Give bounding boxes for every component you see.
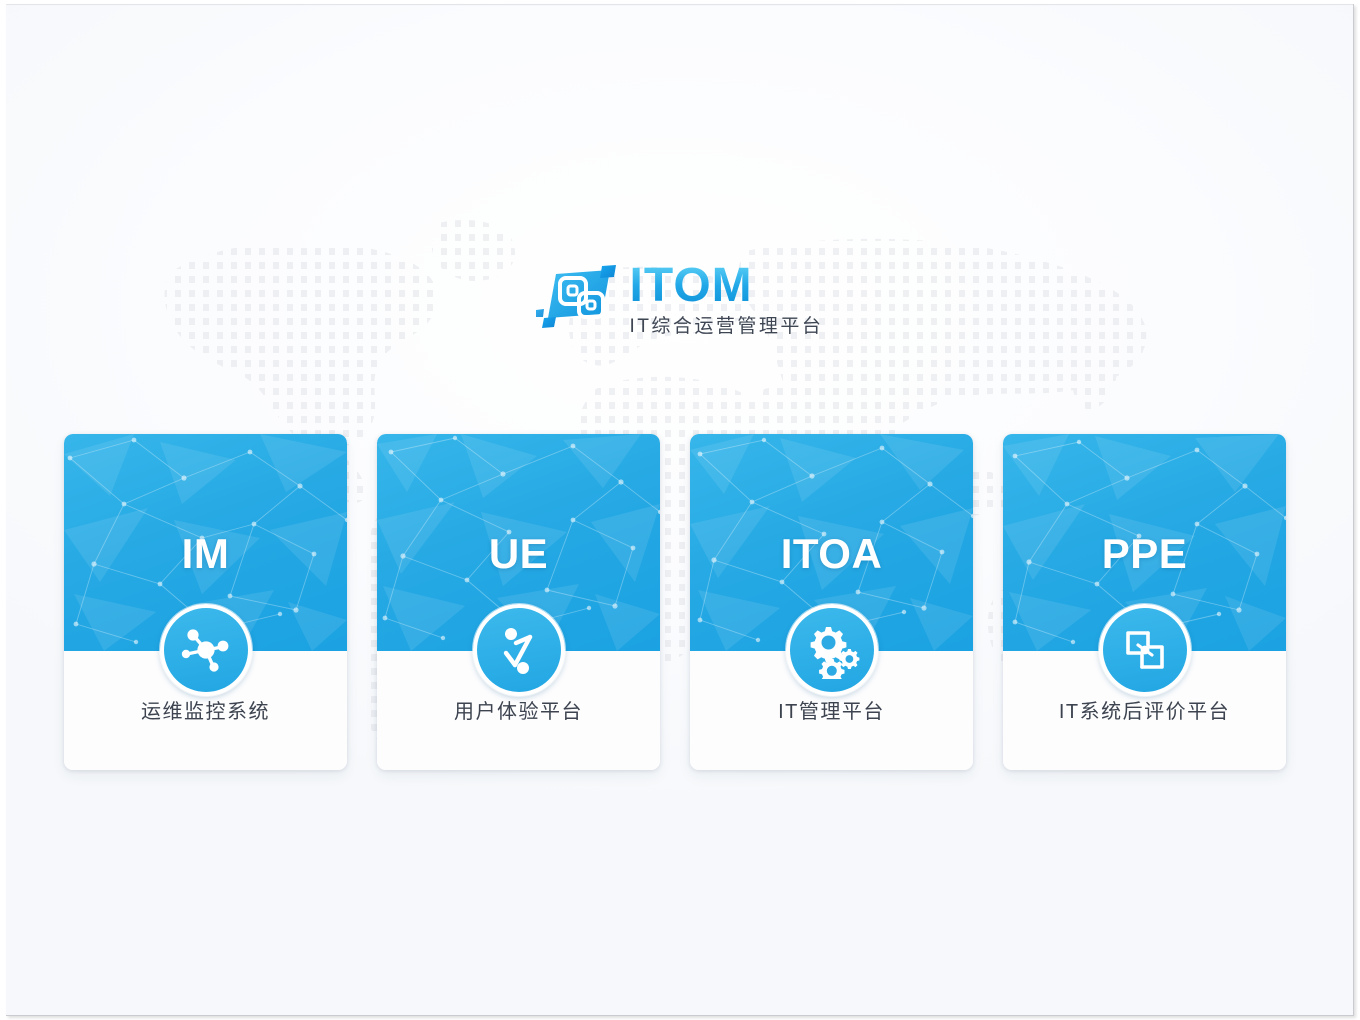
brand-subtitle: IT综合运营管理平台 xyxy=(630,316,824,338)
molecule-network-icon[interactable] xyxy=(160,604,252,696)
card-code: PPE xyxy=(1003,530,1286,578)
brand-wordmark: ITOM xyxy=(630,262,824,310)
card-label: IT管理平台 xyxy=(778,695,885,724)
platform-card-ppe[interactable]: PPE IT系统后评价平台 xyxy=(1003,434,1286,770)
card-label: IT系统后评价平台 xyxy=(1059,695,1230,724)
card-code: UE xyxy=(377,530,660,578)
card-label: 运维监控系统 xyxy=(141,695,270,724)
card-code: IM xyxy=(64,530,347,578)
platform-card-itoa[interactable]: ITOA xyxy=(690,434,973,770)
linked-squares-icon[interactable] xyxy=(1099,604,1191,696)
platform-card-ue[interactable]: UE 用户体验平台 xyxy=(377,434,660,770)
itom-logo-icon xyxy=(536,264,622,330)
user-experience-check-icon[interactable] xyxy=(473,604,565,696)
card-label: 用户体验平台 xyxy=(454,695,583,724)
platform-card-im[interactable]: IM xyxy=(64,434,347,770)
platform-card-list: IM xyxy=(64,434,1286,774)
gears-icon[interactable] xyxy=(786,604,878,696)
slide-canvas: ITOM IT综合运营管理平台 xyxy=(6,4,1354,1016)
card-code: ITOA xyxy=(690,530,973,578)
brand-logo-block: ITOM IT综合运营管理平台 xyxy=(6,262,1353,352)
